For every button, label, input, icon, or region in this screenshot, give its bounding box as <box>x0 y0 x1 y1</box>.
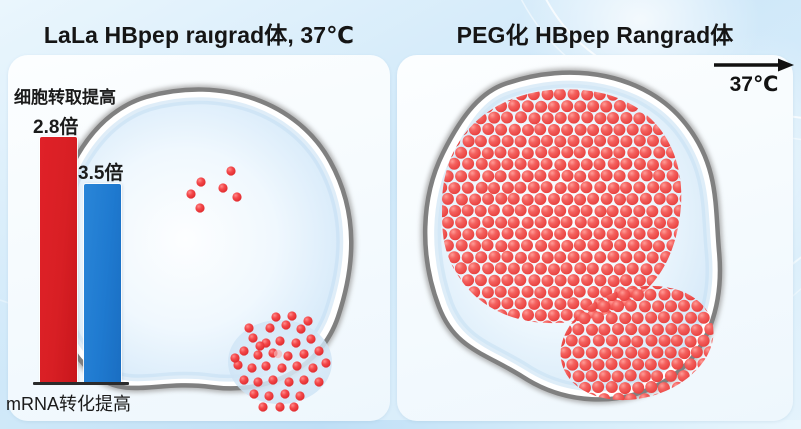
panel-right-title: PEG化 HBpep Rangrad体 <box>397 16 793 50</box>
chart-baseline-axis <box>33 382 129 385</box>
temperature-annotation: 37℃ <box>712 58 796 96</box>
bar-value-label-blue: 3.5倍 <box>78 158 123 185</box>
bar-chart: 细胞转取提高 2.8倍 3.5倍 mRNA转化提高 <box>0 0 170 429</box>
pegylated-cell-illustration <box>397 55 793 421</box>
chart-title-label: 细胞转取提高 <box>14 83 116 108</box>
bar-blue <box>84 184 121 383</box>
chart-xaxis-label: mRNA转化提高 <box>6 390 131 416</box>
arrow-right-icon <box>712 58 796 74</box>
bar-value-label-red: 2.8倍 <box>33 112 78 139</box>
bar-red <box>40 137 77 383</box>
panel-right <box>397 55 793 421</box>
illustration-stage: LaLa HBpep raıgrad体, 37℃ PEG化 HBpep Rang… <box>0 0 801 429</box>
temperature-label: 37℃ <box>712 74 796 96</box>
